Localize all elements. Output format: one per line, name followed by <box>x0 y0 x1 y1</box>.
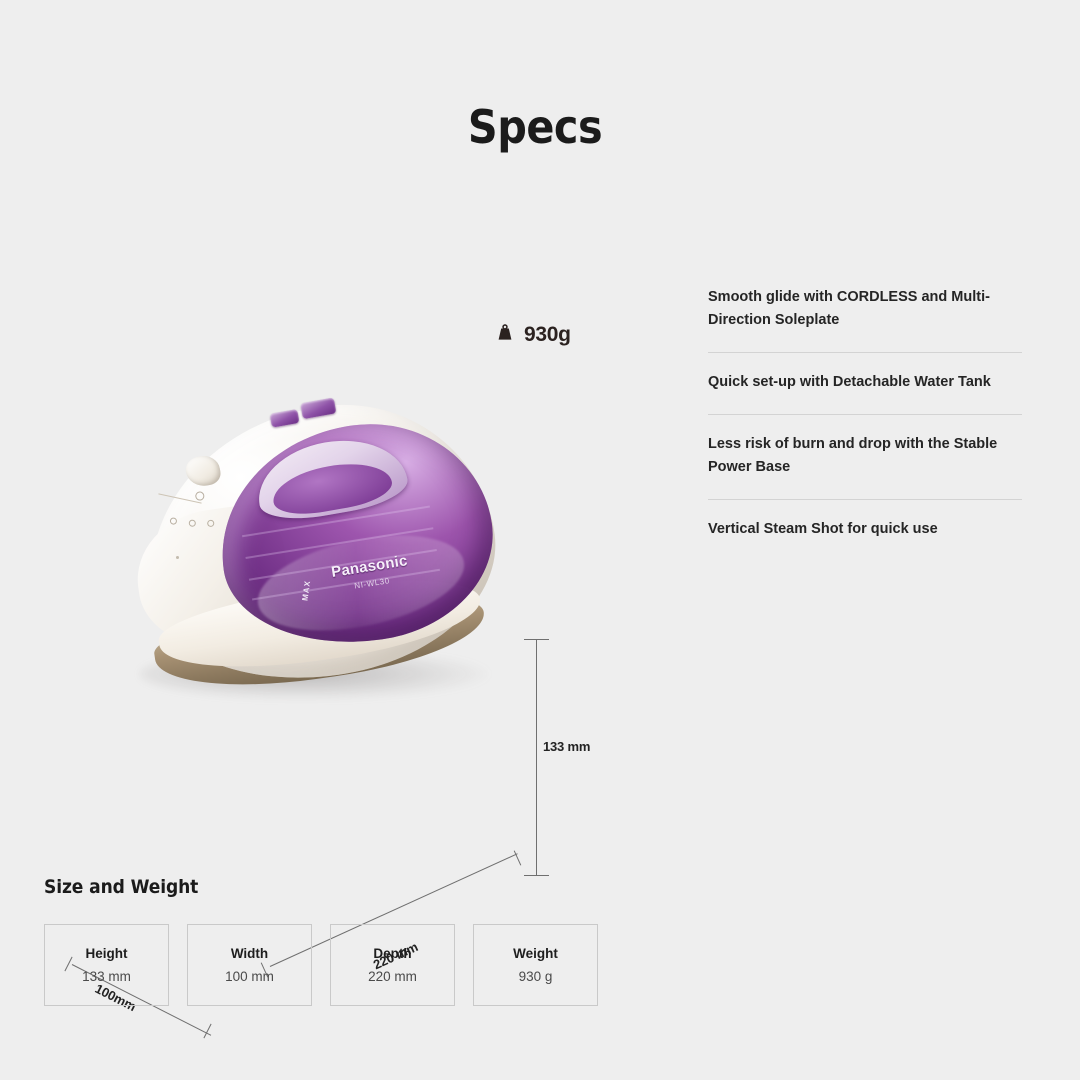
spec-card-weight: Weight 930 g <box>473 924 598 1006</box>
spec-card-value: 220 mm <box>368 969 417 984</box>
spec-card-label: Height <box>86 946 128 961</box>
spec-card-label: Weight <box>513 946 558 961</box>
size-and-weight-section: Size and Weight Height 133 mm Width 100 … <box>44 876 598 1006</box>
iron-product-image: Panasonic NI-WL30 MAX <box>120 390 520 720</box>
spec-card-value: 100 mm <box>225 969 274 984</box>
specs-page: Specs 930g <box>0 0 1080 1080</box>
spec-card-value: 133 mm <box>82 969 131 984</box>
feature-divider <box>708 499 1022 500</box>
spec-card-depth: Depth 220 mm <box>330 924 455 1006</box>
weight-icon <box>495 322 515 347</box>
feature-item: Vertical Steam Shot for quick use <box>708 518 1022 541</box>
feature-item: Smooth glide with CORDLESS and Multi-Dir… <box>708 286 1022 352</box>
spec-card-label: Depth <box>373 946 411 961</box>
page-title: Specs <box>0 100 1070 154</box>
size-and-weight-cards: Height 133 mm Width 100 mm Depth 220 mm … <box>44 924 598 1006</box>
body-detail-dot <box>176 556 179 559</box>
dimension-height-label: 133 mm <box>543 739 590 754</box>
spec-card-height: Height 133 mm <box>44 924 169 1006</box>
spec-card-value: 930 g <box>519 969 553 984</box>
size-and-weight-heading: Size and Weight <box>44 876 598 898</box>
product-hero: 930g Panasonic NI-WL30 MAX <box>0 250 660 820</box>
feature-divider <box>708 414 1022 415</box>
steam-shot-button <box>270 409 300 428</box>
feature-item: Quick set-up with Detachable Water Tank <box>708 371 1022 414</box>
weight-badge: 930g <box>495 322 571 347</box>
weight-badge-label: 930g <box>524 323 571 347</box>
spec-card-label: Width <box>231 946 268 961</box>
feature-list: Smooth glide with CORDLESS and Multi-Dir… <box>708 286 1022 541</box>
spec-card-width: Width 100 mm <box>187 924 312 1006</box>
steam-selector-button <box>300 397 336 419</box>
feature-item: Less risk of burn and drop with the Stab… <box>708 433 1022 499</box>
feature-divider <box>708 352 1022 353</box>
